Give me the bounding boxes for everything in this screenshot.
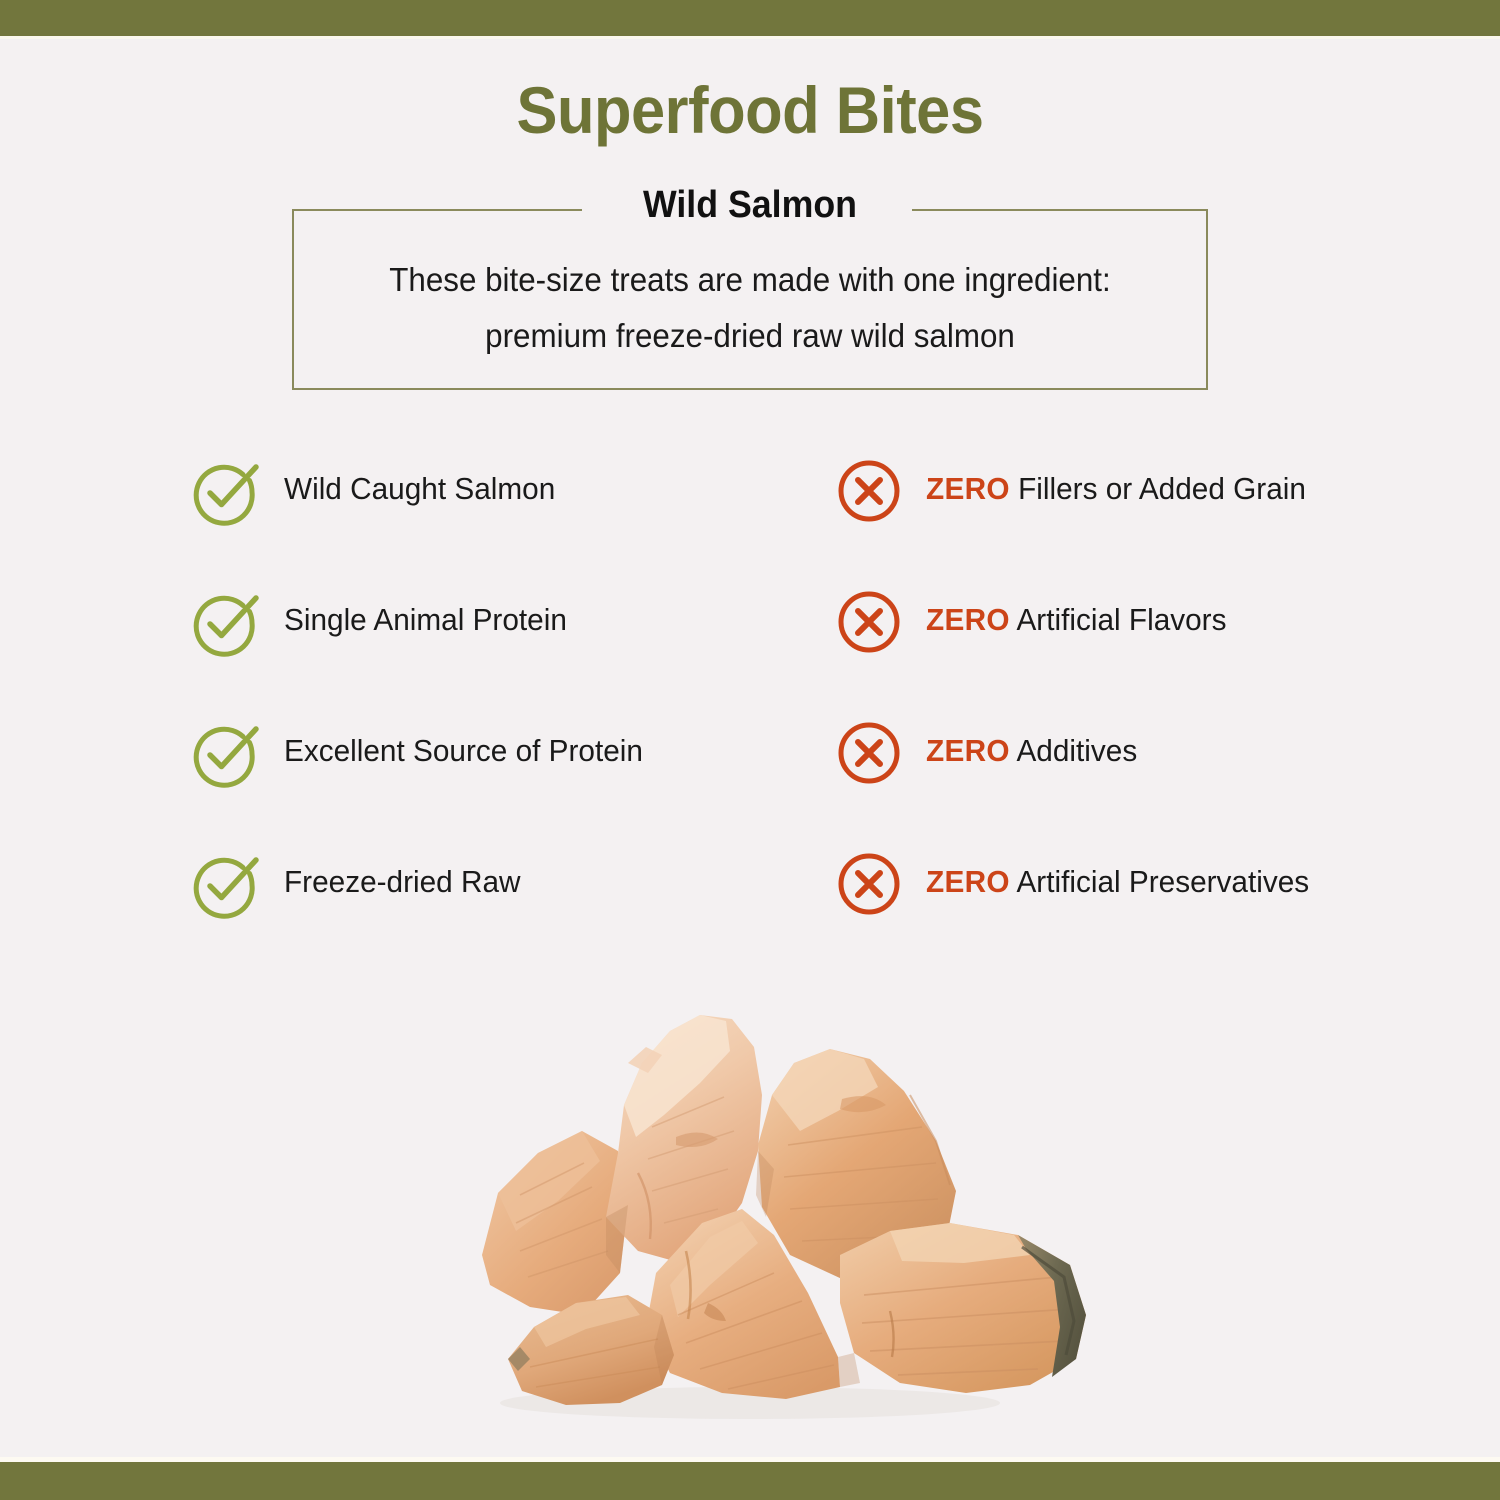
bottom-accent-band [0, 1462, 1500, 1500]
check-circle-icon [196, 722, 258, 784]
feature-row: ZERO Fillers or Added Grain [838, 455, 1458, 586]
check-circle-icon [196, 460, 258, 522]
feature-row: Wild Caught Salmon [196, 455, 816, 586]
zero-emphasis: ZERO [926, 602, 1010, 637]
check-circle-icon [196, 853, 258, 915]
feature-label: Wild Caught Salmon [284, 471, 555, 507]
feature-label: Excellent Source of Protein [284, 733, 643, 769]
top-accent-band [0, 0, 1500, 36]
zero-emphasis: ZERO [926, 864, 1010, 899]
top-hairline [0, 36, 1500, 39]
feature-row: ZERO Artificial Flavors [838, 586, 1458, 717]
feature-label-rest: Additives [1010, 733, 1137, 768]
feature-column-positive: Wild Caught Salmon Single Animal Protein [196, 455, 816, 979]
x-circle-icon [838, 853, 900, 915]
product-photo-salmon-chunks [370, 955, 1130, 1425]
product-infographic: Superfood Bites Wild Salmon These bite-s… [0, 0, 1500, 1500]
feature-label-rest: Fillers or Added Grain [1010, 471, 1306, 506]
zero-emphasis: ZERO [926, 471, 1010, 506]
feature-label: ZERO Fillers or Added Grain [926, 471, 1306, 507]
feature-label-rest: Artificial Preservatives [1010, 864, 1309, 899]
description-line-2: premium freeze-dried raw wild salmon [315, 308, 1185, 364]
feature-label: ZERO Additives [926, 733, 1137, 769]
zero-emphasis: ZERO [926, 733, 1010, 768]
feature-label-rest: Artificial Flavors [1010, 602, 1227, 637]
x-circle-icon [838, 722, 900, 784]
x-circle-icon [838, 460, 900, 522]
feature-label: ZERO Artificial Flavors [926, 602, 1226, 638]
description-line-1: These bite-size treats are made with one… [315, 252, 1185, 308]
feature-row: ZERO Additives [838, 717, 1458, 848]
feature-row: Single Animal Protein [196, 586, 816, 717]
feature-column-negative: ZERO Fillers or Added Grain ZERO Artific… [838, 455, 1458, 979]
feature-label: Single Animal Protein [284, 602, 567, 638]
check-circle-icon [196, 591, 258, 653]
feature-label: Freeze-dried Raw [284, 864, 521, 900]
description-text: These bite-size treats are made with one… [315, 252, 1185, 364]
x-circle-icon [838, 591, 900, 653]
product-variant-heading: Wild Salmon [45, 184, 1455, 227]
feature-row: Excellent Source of Protein [196, 717, 816, 848]
page-title: Superfood Bites [53, 72, 1448, 148]
feature-label: ZERO Artificial Preservatives [926, 864, 1309, 900]
